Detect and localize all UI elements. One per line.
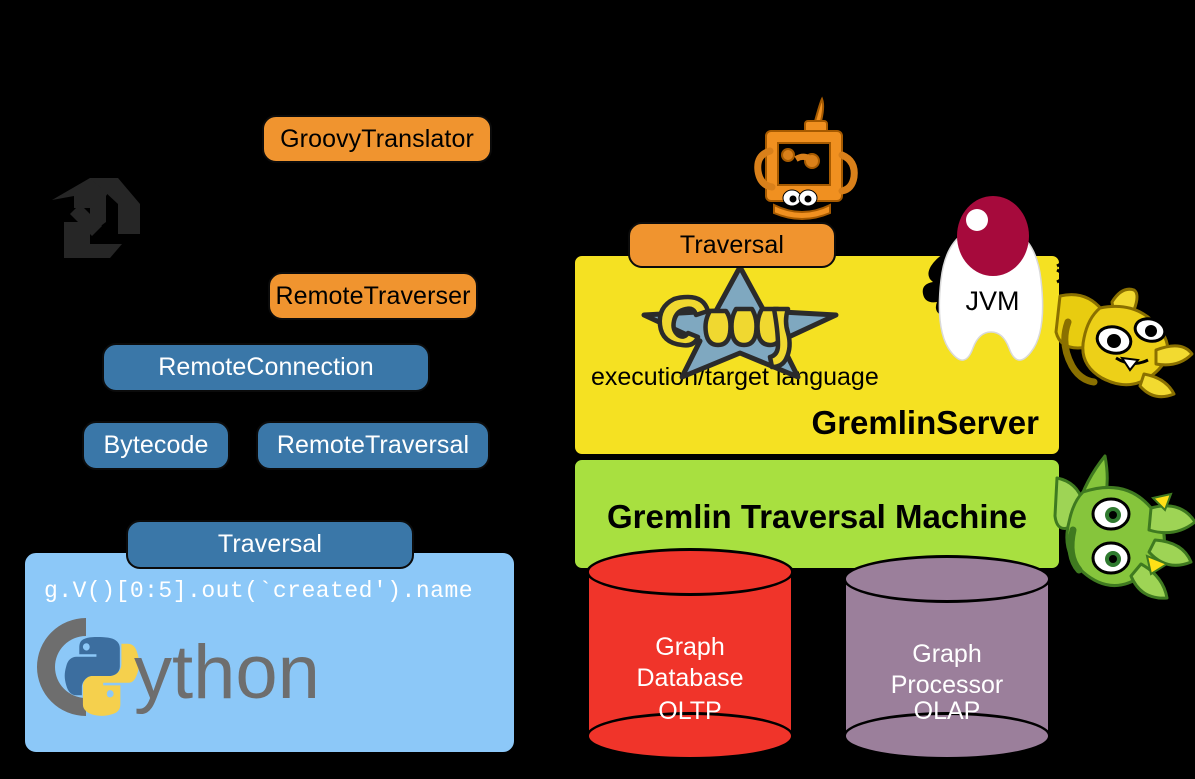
- cylinder-label-line1: Graph: [843, 639, 1051, 670]
- pill-label: Traversal: [680, 231, 784, 260]
- yellow-gremlin-mascot-icon: [1056, 288, 1195, 408]
- cylinder-label-line2: Database: [586, 663, 794, 694]
- pill-label: RemoteConnection: [158, 353, 374, 382]
- java-duke-icon: JVM: [905, 178, 1080, 363]
- tinkerpop-logo-icon: [44, 170, 154, 260]
- pill-remoteconnection[interactable]: RemoteConnection: [102, 343, 430, 392]
- pill-label: Traversal: [218, 530, 322, 559]
- pill-label: GroovyTranslator: [280, 125, 474, 154]
- pill-label: RemoteTraversal: [277, 431, 469, 460]
- green-gremlin-mascot-icon: [1055, 452, 1195, 602]
- cylinder-label-line1: Graph: [586, 632, 794, 663]
- graph-database-cylinder: Graph Database OLTP: [586, 548, 794, 760]
- traversal-code-text: g.V()[0:5].out(`created').name: [44, 578, 514, 604]
- graph-processor-cylinder: Graph Processor OLAP: [843, 555, 1051, 760]
- pill-remotetraversal[interactable]: RemoteTraversal: [256, 421, 490, 470]
- cylinder-sublabel: OLAP: [843, 697, 1051, 726]
- pill-bytecode[interactable]: Bytecode: [82, 421, 230, 470]
- cylinder-sublabel: OLTP: [586, 697, 794, 726]
- pill-traversal-server[interactable]: Traversal: [628, 222, 836, 268]
- groovy-star-logo-icon: [640, 265, 840, 380]
- diagram-canvas: GroovyTranslator RemoteTraverser RemoteC…: [0, 0, 1195, 779]
- svg-text:ython: ython: [134, 630, 320, 715]
- python-logo-icon: ython: [26, 612, 276, 722]
- gremlin-server-title: GremlinServer: [812, 404, 1039, 442]
- pill-groovytranslator[interactable]: GroovyTranslator: [262, 115, 492, 163]
- pill-remotetraverser[interactable]: RemoteTraverser: [268, 272, 478, 320]
- pill-label: RemoteTraverser: [275, 282, 470, 311]
- gremlin-frame-mascot-icon: [752, 95, 862, 215]
- pill-label: Bytecode: [103, 431, 208, 460]
- gremlin-traversal-machine-title: Gremlin Traversal Machine: [575, 498, 1059, 536]
- jvm-label: JVM: [905, 286, 1080, 317]
- cylinder-label: Graph Database: [586, 632, 794, 694]
- cylinder-top: [586, 548, 794, 596]
- cylinder-label: Graph Processor: [843, 639, 1051, 701]
- cylinder-top: [843, 555, 1051, 603]
- pill-traversal-left[interactable]: Traversal: [126, 520, 414, 569]
